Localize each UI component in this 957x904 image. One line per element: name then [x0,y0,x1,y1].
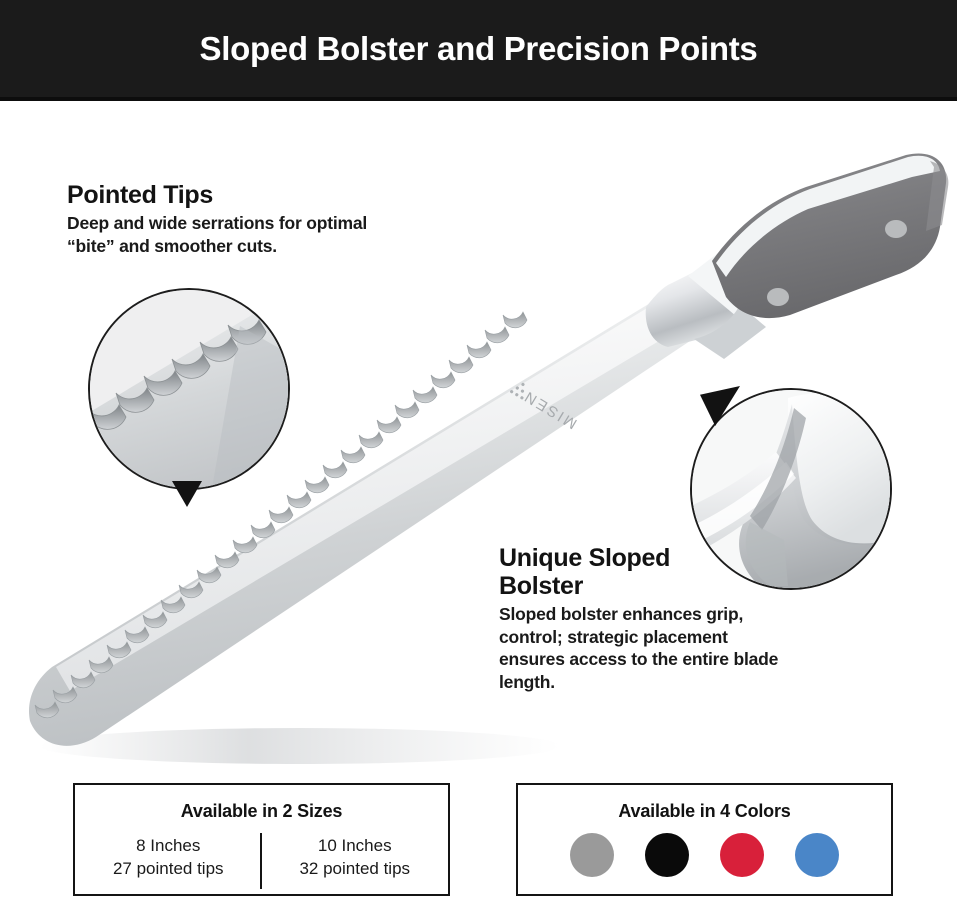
size-option-label: 8 Inches [75,835,262,858]
available-sizes-box: Available in 2 Sizes 8 Inches 27 pointed… [73,783,450,896]
header-banner: Sloped Bolster and Precision Points [0,0,957,101]
magnifier-serrations [88,288,290,490]
available-colors-box: Available in 4 Colors [516,783,893,896]
size-option-8-inch: 8 Inches 27 pointed tips [75,835,262,880]
size-option-tips: 27 pointed tips [75,858,262,881]
sloped-bolster-heading: Unique Sloped Bolster [499,544,739,601]
pointed-tips-description: Deep and wide serrations for optimal “bi… [67,212,397,257]
sloped-bolster-description: Sloped bolster enhances grip, control; s… [499,603,789,693]
infographic-canvas: Sloped Bolster and Precision Points [0,0,957,904]
size-option-10-inch: 10 Inches 32 pointed tips [262,835,449,880]
size-option-tips: 32 pointed tips [262,858,449,881]
sizes-columns: 8 Inches 27 pointed tips 10 Inches 32 po… [75,835,448,880]
size-option-label: 10 Inches [262,835,449,858]
page-title: Sloped Bolster and Precision Points [0,0,957,97]
colors-box-title: Available in 4 Colors [518,801,891,822]
color-swatch-gray[interactable] [570,833,614,877]
serration-pointer-triangle-icon [172,481,202,507]
sizes-box-title: Available in 2 Sizes [75,801,448,822]
pointed-tips-heading: Pointed Tips [67,181,213,209]
color-swatch-black[interactable] [645,833,689,877]
color-swatch-blue[interactable] [795,833,839,877]
serration-closeup [90,290,288,488]
color-swatch-row [518,833,891,877]
color-swatch-red[interactable] [720,833,764,877]
